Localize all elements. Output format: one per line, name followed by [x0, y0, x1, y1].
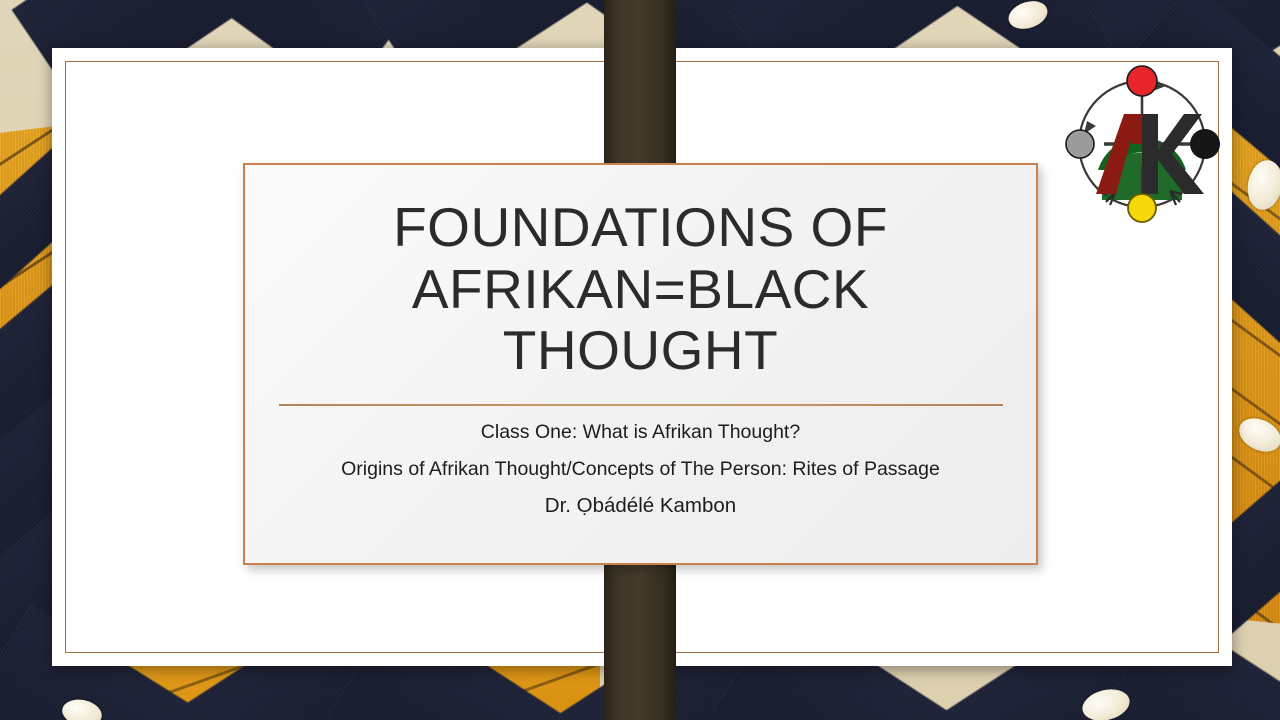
title-panel: FOUNDATIONS OFAFRIKAN=BLACK THOUGHT Clas… — [243, 163, 1038, 565]
logo-node-top — [1127, 66, 1157, 96]
page-title: FOUNDATIONS OFAFRIKAN=BLACK THOUGHT — [271, 197, 1011, 382]
subtitle-line-2: Origins of Afrikan Thought/Concepts of T… — [291, 457, 991, 482]
ak-logo — [1058, 58, 1226, 226]
leather-strap-over-card-top — [604, 48, 676, 176]
logo-node-right — [1190, 129, 1220, 159]
logo-letter-k-stem — [1142, 114, 1158, 194]
author-name: Dr. Ọbádélé Kambon — [291, 493, 991, 519]
title-line-1: FOUNDATIONS OF — [393, 196, 888, 258]
logo-node-left — [1066, 130, 1094, 158]
title-line-2: AFRIKAN=BLACK THOUGHT — [412, 258, 869, 382]
logo-node-bottom — [1128, 194, 1156, 222]
subtitle-block: Class One: What is Afrikan Thought? Orig… — [291, 420, 991, 520]
subtitle-line-1: Class One: What is Afrikan Thought? — [291, 420, 991, 445]
title-divider — [279, 404, 1003, 406]
presentation-slide: FOUNDATIONS OFAFRIKAN=BLACK THOUGHT Clas… — [0, 0, 1280, 720]
